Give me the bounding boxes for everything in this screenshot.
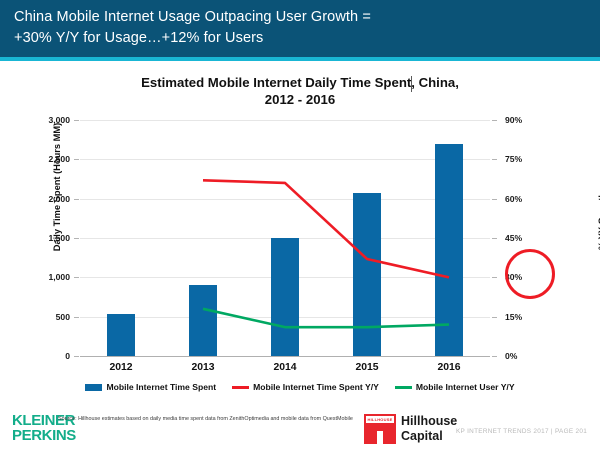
chart-title-line-2: 2012 - 2016 xyxy=(60,91,540,108)
axis-tick-mark xyxy=(492,159,497,160)
chart-legend: Mobile Internet Time SpentMobile Interne… xyxy=(0,382,600,392)
axis-tick-mark xyxy=(492,120,497,121)
y-axis-left-tick-label: 0 xyxy=(28,351,70,361)
header-line-2: +30% Y/Y for Usage…+12% for Users xyxy=(14,28,586,49)
axis-tick-mark xyxy=(492,199,497,200)
legend-swatch-icon xyxy=(395,386,412,389)
legend-label: Mobile Internet Time Spent Y/Y xyxy=(253,382,379,392)
x-axis-tick-label: 2015 xyxy=(326,362,408,373)
y-axis-right-tick-label: 0% xyxy=(505,351,547,361)
header-accent-bar xyxy=(0,57,600,61)
x-axis-tick-label: 2012 xyxy=(80,362,162,373)
hillhouse-capital-name: Hillhouse Capital xyxy=(401,414,457,444)
line-series-layer xyxy=(80,120,490,356)
kp-logo-line-2: PERKINS xyxy=(12,429,76,444)
y-axis-right-tick-label: 15% xyxy=(505,312,547,322)
axis-tick-mark xyxy=(492,238,497,239)
line-mobile-internet-time-spent-yy xyxy=(203,180,449,277)
axis-tick-mark xyxy=(74,120,79,121)
legend-item[interactable]: Mobile Internet Time Spent Y/Y xyxy=(232,382,379,392)
axis-tick-mark xyxy=(492,277,497,278)
x-axis-tick-label: 2016 xyxy=(408,362,490,373)
y-axis-right-tick-label: 90% xyxy=(505,115,547,125)
y-axis-left-title: Daily Time Spent (Hours MM) xyxy=(52,112,62,262)
legend-label: Mobile Internet Time Spent xyxy=(106,382,216,392)
axis-tick-mark xyxy=(74,238,79,239)
legend-item[interactable]: Mobile Internet User Y/Y xyxy=(395,382,515,392)
chart-title: Estimated Mobile Internet Daily Time Spe… xyxy=(60,74,540,108)
line-mobile-internet-user-yy xyxy=(203,309,449,327)
legend-swatch-icon xyxy=(232,386,249,389)
text-cursor-caret xyxy=(411,76,412,92)
gridline xyxy=(80,356,490,357)
header-line-1: China Mobile Internet Usage Outpacing Us… xyxy=(14,7,586,28)
source-note: Source: Hillhouse estimates based on dai… xyxy=(58,416,358,424)
y-axis-left-tick-label: 1,500 xyxy=(28,233,70,243)
slide: China Mobile Internet Usage Outpacing Us… xyxy=(0,0,600,450)
axis-tick-mark xyxy=(74,317,79,318)
slide-header: China Mobile Internet Usage Outpacing Us… xyxy=(0,0,600,57)
hillhouse-logo-notch xyxy=(377,431,383,444)
y-axis-right-tick-label: 45% xyxy=(505,233,547,243)
chart-title-line-1: Estimated Mobile Internet Daily Time Spe… xyxy=(60,74,540,91)
legend-item[interactable]: Mobile Internet Time Spent xyxy=(85,382,216,392)
y-axis-left-tick-label: 2,500 xyxy=(28,154,70,164)
y-axis-right-tick-label: 75% xyxy=(505,154,547,164)
y-axis-left-tick-label: 500 xyxy=(28,312,70,322)
hillhouse-name-line-2: Capital xyxy=(401,429,457,444)
y-axis-left-tick-label: 2,000 xyxy=(28,194,70,204)
axis-tick-mark xyxy=(74,356,79,357)
x-axis-tick-label: 2013 xyxy=(162,362,244,373)
axis-tick-mark xyxy=(74,159,79,160)
y-axis-left-tick-label: 3,000 xyxy=(28,115,70,125)
y-axis-left-tick-label: 1,000 xyxy=(28,272,70,282)
axis-tick-mark xyxy=(492,356,497,357)
hillhouse-logo-wordmark: HILLHOUSE xyxy=(366,416,394,423)
page-note: KP INTERNET TRENDS 2017 | PAGE 201 xyxy=(456,428,587,435)
axis-tick-mark xyxy=(492,317,497,318)
highlight-circle-annotation xyxy=(505,249,555,299)
hillhouse-logo-mark: HILLHOUSE xyxy=(364,414,396,444)
chart-plot-area: 05001,0001,5002,0002,5003,000 0%15%30%45… xyxy=(80,120,490,356)
axis-tick-mark xyxy=(74,277,79,278)
hillhouse-name-line-1: Hillhouse xyxy=(401,414,457,429)
legend-swatch-icon xyxy=(85,384,102,391)
axis-tick-mark xyxy=(74,199,79,200)
y-axis-right-tick-label: 60% xyxy=(505,194,547,204)
legend-label: Mobile Internet User Y/Y xyxy=(416,382,515,392)
x-axis-tick-label: 2014 xyxy=(244,362,326,373)
